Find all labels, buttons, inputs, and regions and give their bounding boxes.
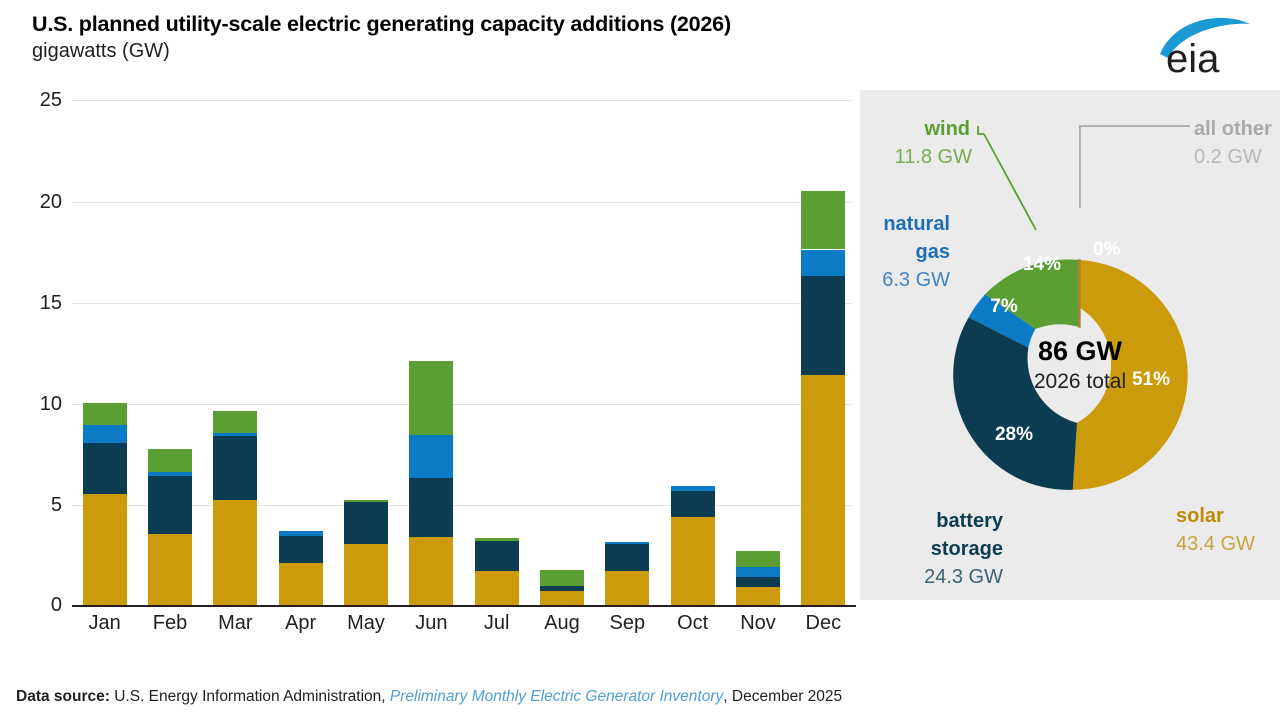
bar-segment-jun-battery-storage[interactable] [409, 478, 453, 538]
bar-segment-apr-solar[interactable] [279, 563, 323, 605]
bar-chart-plot: 25 20 15 10 5 0 JanFebMarAprMayJunJulAug… [0, 0, 860, 660]
donut-center-total: 86 GW [1038, 336, 1123, 366]
eia-logo: eia [1154, 14, 1254, 80]
bar-segment-oct-solar[interactable] [671, 517, 715, 605]
y-tick-25: 25 [16, 90, 62, 110]
leader-lines [978, 126, 1190, 230]
bar-segment-mar-battery-storage[interactable] [213, 436, 257, 500]
bar-segment-aug-battery-storage[interactable] [540, 586, 584, 591]
data-source-agency: U.S. Energy Information Administration, [110, 688, 390, 705]
bar-segment-jan-battery-storage[interactable] [83, 443, 127, 494]
data-source-publication-link[interactable]: Preliminary Monthly Electric Generator I… [390, 688, 723, 705]
bar-segment-jul-battery-storage[interactable] [475, 541, 519, 570]
bar-segment-apr-natural-gas[interactable] [279, 531, 323, 536]
donut-label-natural-gas-value: 6.3 GW [882, 269, 950, 291]
donut-percent-wind: 14% [1023, 254, 1061, 275]
donut-percent-solar: 51% [1132, 369, 1170, 390]
bar-segment-feb-solar[interactable] [148, 534, 192, 605]
bar-segment-dec-battery-storage[interactable] [801, 276, 845, 375]
donut-percent-natural-gas: 7% [990, 296, 1018, 317]
x-tick-apr: Apr [269, 612, 333, 635]
donut-percent-battery-storage: 28% [995, 424, 1033, 445]
x-tick-oct: Oct [661, 612, 725, 635]
x-tick-feb: Feb [138, 612, 202, 635]
donut-slice-all-other[interactable] [1078, 260, 1080, 327]
bar-segment-jun-wind[interactable] [409, 361, 453, 436]
bar-segment-nov-battery-storage[interactable] [736, 577, 780, 587]
bar-segment-sep-battery-storage[interactable] [605, 544, 649, 570]
bar-segment-aug-wind[interactable] [540, 570, 584, 586]
svg-text:eia: eia [1166, 37, 1220, 80]
donut-label-battery-storage-name-2: storage [931, 538, 1003, 560]
bar-segment-jun-solar[interactable] [409, 537, 453, 605]
y-tick-10: 10 [16, 394, 62, 414]
donut-center-sublabel: 2026 total [1034, 370, 1126, 393]
data-source-footer: Data source: U.S. Energy Information Adm… [16, 688, 842, 706]
x-tick-may: May [334, 612, 398, 635]
bar-segment-mar-wind[interactable] [213, 411, 257, 433]
bar-segment-dec-solar[interactable] [801, 375, 845, 605]
donut-label-natural-gas-name-1: natural [883, 213, 950, 235]
x-tick-jun: Jun [399, 612, 463, 635]
donut-label-battery-storage-value: 24.3 GW [924, 566, 1003, 588]
data-source-label: Data source: [16, 688, 110, 705]
bar-segment-aug-solar[interactable] [540, 591, 584, 605]
bar-segment-sep-natural-gas[interactable] [605, 542, 649, 544]
y-tick-5: 5 [16, 495, 62, 515]
donut-label-solar-value: 43.4 GW [1176, 533, 1255, 555]
bar-segment-mar-natural-gas[interactable] [213, 433, 257, 436]
y-tick-15: 15 [16, 293, 62, 313]
bar-segment-dec-natural-gas[interactable] [801, 250, 845, 276]
bar-segment-dec-wind[interactable] [801, 191, 845, 250]
bar-segment-may-battery-storage[interactable] [344, 502, 388, 544]
bar-segment-apr-battery-storage[interactable] [279, 536, 323, 562]
donut-label-battery-storage-name-1: battery [936, 510, 1004, 532]
bar-segment-nov-natural-gas[interactable] [736, 567, 780, 577]
bar-segment-jul-wind[interactable] [475, 538, 519, 541]
y-axis: 25 20 15 10 5 0 [0, 0, 62, 660]
bar-segment-jan-wind[interactable] [83, 403, 127, 425]
x-tick-jan: Jan [73, 612, 137, 635]
bar-segment-oct-battery-storage[interactable] [671, 491, 715, 517]
bar-segment-oct-natural-gas[interactable] [671, 486, 715, 491]
bar-segment-may-wind[interactable] [344, 500, 388, 502]
bar-segment-sep-solar[interactable] [605, 571, 649, 605]
bar-segment-may-solar[interactable] [344, 544, 388, 605]
bar-segment-nov-wind[interactable] [736, 551, 780, 566]
x-tick-dec: Dec [791, 612, 855, 635]
donut-label-wind-value: 11.8 GW [895, 146, 973, 168]
donut-percent-all-other: 0% [1093, 239, 1121, 260]
bar-series-container [72, 100, 856, 605]
donut-label-all-other-value: 0.2 GW [1194, 146, 1262, 168]
x-axis-line [72, 605, 856, 607]
donut-label-natural-gas-name-2: gas [916, 241, 950, 263]
bar-segment-jan-natural-gas[interactable] [83, 425, 127, 443]
x-tick-jul: Jul [465, 612, 529, 635]
y-tick-0: 0 [16, 595, 62, 615]
bar-segment-feb-natural-gas[interactable] [148, 472, 192, 476]
x-tick-mar: Mar [203, 612, 267, 635]
x-tick-aug: Aug [530, 612, 594, 635]
x-tick-nov: Nov [726, 612, 790, 635]
bar-segment-jan-solar[interactable] [83, 494, 127, 605]
bar-segment-nov-solar[interactable] [736, 587, 780, 605]
y-tick-20: 20 [16, 192, 62, 212]
fuel-share-donut-panel: 51% 28% 7% 14% 0% 86 GW 2026 total wind … [860, 90, 1280, 600]
donut-label-wind-name: wind [923, 118, 970, 140]
bar-segment-jul-solar[interactable] [475, 571, 519, 605]
bar-segment-jun-natural-gas[interactable] [409, 435, 453, 477]
bar-segment-mar-solar[interactable] [213, 500, 257, 605]
bar-segment-feb-wind[interactable] [148, 449, 192, 471]
donut-label-solar-name: solar [1176, 505, 1224, 527]
x-tick-sep: Sep [595, 612, 659, 635]
data-source-date: , December 2025 [723, 688, 842, 705]
donut-label-all-other-name: all other [1194, 118, 1272, 140]
bar-segment-feb-battery-storage[interactable] [148, 476, 192, 535]
